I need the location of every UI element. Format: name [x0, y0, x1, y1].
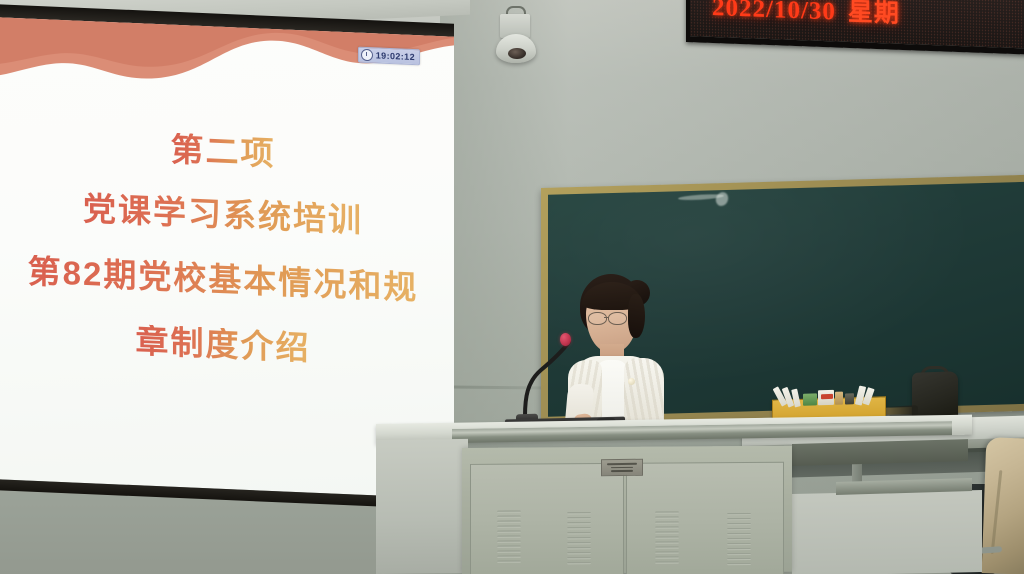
camera-lens	[508, 48, 526, 59]
podium-door-left[interactable]	[470, 463, 624, 574]
vent-group	[567, 512, 591, 564]
microphone-head	[560, 333, 571, 346]
chalk-package-label	[821, 394, 833, 399]
podium-label-plate	[601, 459, 643, 477]
podium-door-right[interactable]	[626, 462, 784, 574]
chalk-package-dark	[845, 393, 854, 404]
eyeglasses-right-lens	[608, 312, 627, 325]
brooch	[628, 378, 635, 385]
lecture-hall-photo: 2022/10/30星期 第二项 党课学习系统培训 第82期党校基本情况和规 章…	[0, 0, 1024, 574]
slide-line-3: 第82期党校基本情况和规	[28, 255, 419, 305]
chalk-smudge-2	[714, 190, 730, 207]
draped-jacket	[982, 437, 1024, 574]
eyeglasses-left-lens	[588, 312, 607, 325]
clock-overlay: 19:02:12	[358, 47, 420, 66]
chalk-package-green	[803, 393, 817, 405]
chalk-package-tan	[835, 392, 843, 405]
vent-group	[497, 511, 521, 563]
led-weekday-text: 星期	[848, 0, 900, 28]
slide-line-1: 第二项	[171, 133, 276, 170]
eyeglasses-bridge	[604, 317, 609, 318]
podium-lower-right	[792, 490, 982, 574]
led-date-text: 2022/10/30	[712, 0, 836, 25]
presenter	[540, 272, 690, 432]
podium-left-panel	[376, 439, 468, 574]
clock-icon	[361, 49, 373, 62]
clock-time: 19:02:12	[376, 50, 415, 62]
slide-line-2: 党课学习系统培训	[83, 192, 363, 237]
vent-group	[655, 511, 679, 563]
hair-side	[628, 294, 645, 338]
slide-line-4: 章制度介绍	[136, 324, 311, 364]
vent-group	[727, 513, 751, 565]
